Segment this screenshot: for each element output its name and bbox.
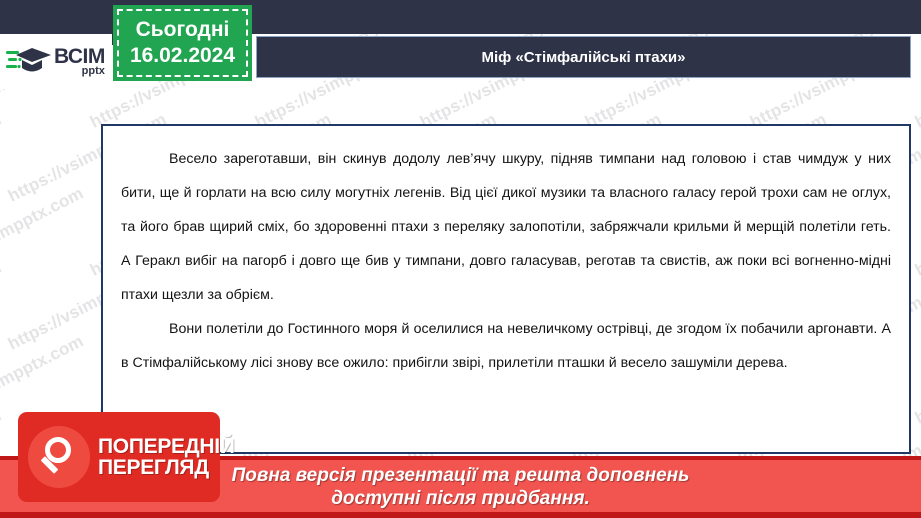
body-paragraph-2: Вони полетіли до Гостинного моря й осели…: [121, 312, 891, 380]
preview-label-line1: ПОПЕРЕДНІЙ: [98, 436, 235, 457]
body-paragraph-1: Весело зареготавши, він скинув додолу ле…: [121, 142, 891, 312]
watermark-text: https://vsimpptx.com: [912, 183, 921, 280]
date-badge-label: Сьогодні: [136, 17, 230, 43]
preview-label-line2: ПЕРЕГЛЯД: [98, 457, 235, 478]
magnifier-icon: [28, 426, 90, 488]
watermark-text: https://vsimpptx.com: [0, 109, 5, 206]
watermark-text: https://vsimpptx.com: [912, 35, 921, 132]
banner-line2: доступні після придбання.: [331, 488, 590, 509]
date-badge: Сьогодні 16.02.2024: [113, 5, 252, 81]
watermark-text: https://vsimpptx.com: [912, 331, 921, 428]
graduation-cap-icon: [6, 45, 52, 79]
presentation-slide: ВСІМ pptx Сьогодні 16.02.2024 Міф «Стімф…: [0, 0, 921, 518]
slide-title-bar: Міф «Стімфалійські птахи»: [256, 36, 911, 78]
watermark-text: https://vsimpptx.com: [0, 183, 87, 280]
page-title: Міф «Стімфалійські птахи»: [482, 49, 686, 66]
brand-name: ВСІМ: [54, 46, 105, 67]
slide-content-box: Весело зареготавши, він скинув додолу ле…: [101, 124, 911, 454]
date-badge-value: 16.02.2024: [130, 43, 235, 69]
banner-line1: Повна версія презентації та решта доповн…: [232, 465, 690, 486]
watermark-text: https://vsimpptx.com: [0, 257, 5, 354]
brand-logo[interactable]: ВСІМ pptx: [0, 34, 112, 89]
preview-watermark-badge: ПОПЕРЕДНІЙ ПЕРЕГЛЯД: [18, 412, 220, 502]
